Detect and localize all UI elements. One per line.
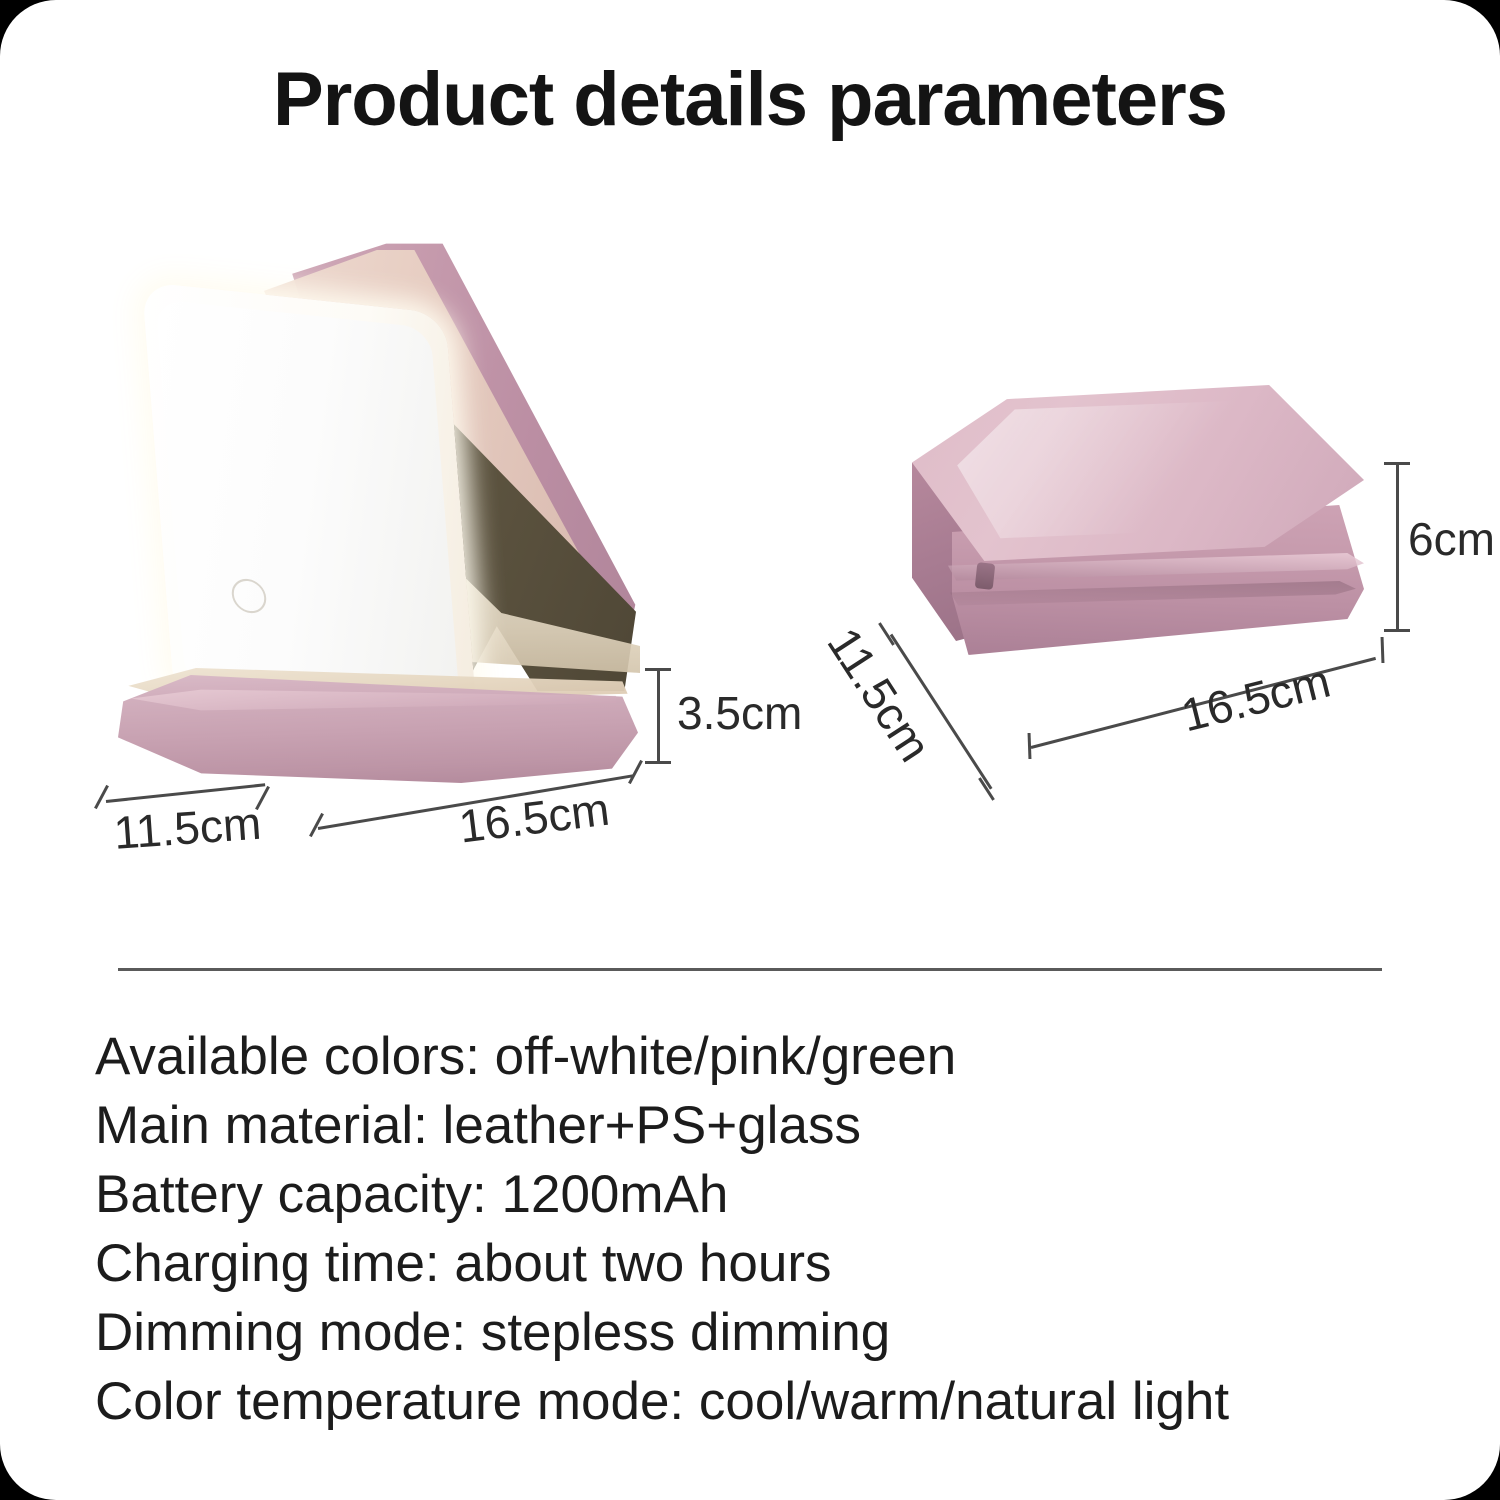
zipper-pull-icon bbox=[975, 562, 996, 590]
spec-dimming-mode: Dimming mode: stepless dimming bbox=[95, 1298, 1425, 1367]
content-canvas: Product details parameters 3.5cm bbox=[0, 0, 1500, 1500]
dimension-cap-start bbox=[1028, 733, 1032, 759]
spec-charging-time: Charging time: about two hours bbox=[95, 1229, 1425, 1298]
dimension-cap-top bbox=[1384, 462, 1410, 465]
dimension-label-3-5cm: 3.5cm bbox=[677, 686, 802, 740]
spec-color-temperature-mode: Color temperature mode: cool/warm/natura… bbox=[95, 1367, 1425, 1436]
product-image-opened-case bbox=[100, 235, 720, 795]
dimension-label-6cm: 6cm bbox=[1408, 512, 1495, 566]
section-divider bbox=[118, 968, 1382, 971]
dimension-line bbox=[657, 668, 660, 764]
specification-list: Available colors: off-white/pink/green M… bbox=[95, 1022, 1425, 1436]
spec-battery-capacity: Battery capacity: 1200mAh bbox=[95, 1160, 1425, 1229]
dimension-line bbox=[1396, 462, 1399, 632]
led-mirror-panel bbox=[155, 299, 461, 715]
product-detail-page: Product details parameters 3.5cm bbox=[0, 0, 1500, 1500]
spec-available-colors: Available colors: off-white/pink/green bbox=[95, 1022, 1425, 1091]
dimension-cap-start bbox=[309, 813, 324, 837]
spec-main-material: Main material: leather+PS+glass bbox=[95, 1091, 1425, 1160]
dimension-label-11-5cm: 11.5cm bbox=[112, 796, 263, 860]
product-image-closed-case bbox=[890, 385, 1390, 675]
page-title: Product details parameters bbox=[0, 56, 1500, 143]
dimension-cap-bottom bbox=[1384, 629, 1410, 632]
dimension-cap-bottom bbox=[645, 761, 671, 764]
dimension-cap-top bbox=[645, 668, 671, 671]
